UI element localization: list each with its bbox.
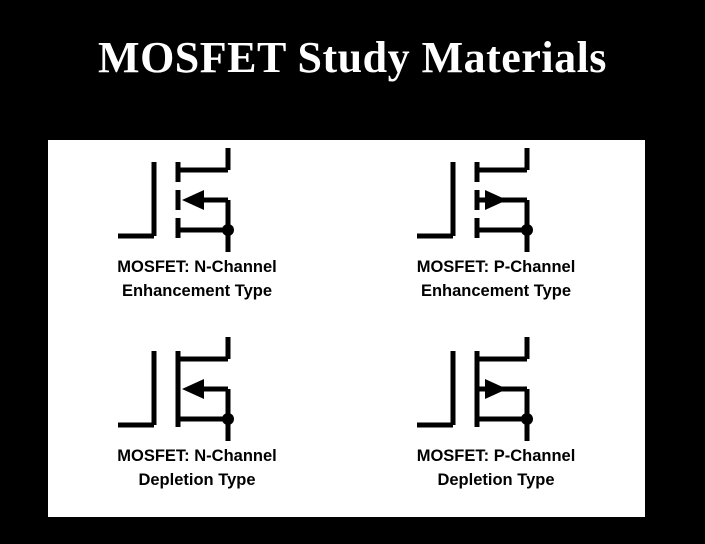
mosfet-symbol-n-channel-enhancement [112, 146, 282, 254]
symbol-caption-line2: Depletion Type [48, 468, 346, 492]
mosfet-symbol-p-channel-depletion [411, 335, 581, 443]
symbol-caption-line1: MOSFET: N-Channel [48, 444, 346, 468]
substrate-arrow-left [182, 190, 204, 210]
substrate-arrow-right [485, 190, 507, 210]
page-title: MOSFET Study Materials [0, 32, 705, 84]
symbol-caption-line1: MOSFET: P-Channel [347, 444, 645, 468]
symbol-caption-line2: Enhancement Type [48, 279, 346, 303]
substrate-arrow-right [485, 379, 507, 399]
symbol-caption-line2: Depletion Type [347, 468, 645, 492]
symbol-cell-n-channel-depletion: MOSFET: N-Channel Depletion Type [48, 329, 346, 517]
symbol-caption-line2: Enhancement Type [347, 279, 645, 303]
symbol-caption-line1: MOSFET: N-Channel [48, 255, 346, 279]
junction-dot [222, 413, 234, 425]
figure-panel: MOSFET: N-Channel Enhancement Type [48, 140, 645, 517]
junction-dot [222, 224, 234, 236]
slide-root: MOSFET Study Materials [0, 0, 705, 544]
mosfet-symbol-n-channel-depletion [112, 335, 282, 443]
substrate-arrow-left [182, 379, 204, 399]
symbol-cell-p-channel-depletion: MOSFET: P-Channel Depletion Type [347, 329, 645, 517]
symbol-caption-line1: MOSFET: P-Channel [347, 255, 645, 279]
symbol-cell-p-channel-enhancement: MOSFET: P-Channel Enhancement Type [347, 140, 645, 328]
mosfet-symbol-p-channel-enhancement [411, 146, 581, 254]
junction-dot [521, 413, 533, 425]
symbol-cell-n-channel-enhancement: MOSFET: N-Channel Enhancement Type [48, 140, 346, 328]
junction-dot [521, 224, 533, 236]
